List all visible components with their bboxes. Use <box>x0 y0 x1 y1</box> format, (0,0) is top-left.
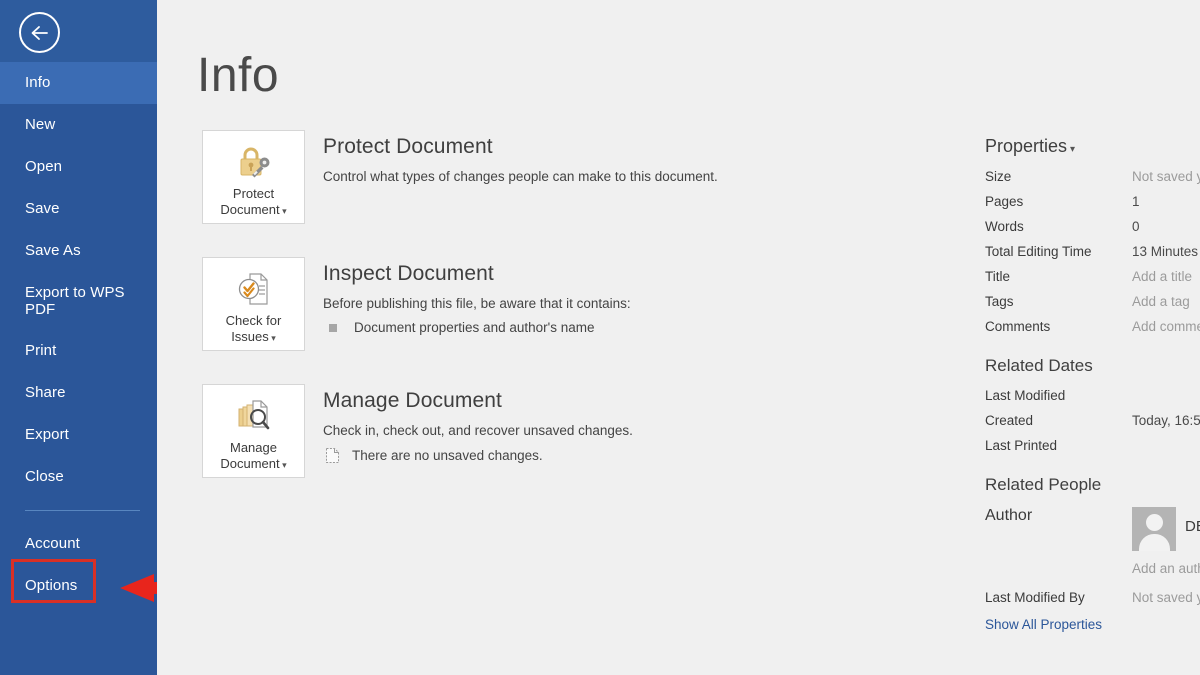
check-for-issues-button[interactable]: Check for Issues ▾ <box>202 257 305 351</box>
property-key: Total Editing Time <box>985 244 1132 259</box>
property-key: Tags <box>985 294 1132 309</box>
section-title: Inspect Document <box>323 262 631 286</box>
sidebar-item-save-as[interactable]: Save As <box>0 230 157 272</box>
sidebar-item-label: Open <box>25 158 62 175</box>
sidebar-item-label: Share <box>25 384 66 401</box>
property-value: 1 <box>1132 194 1140 209</box>
sidebar-item-export[interactable]: Export <box>0 414 157 456</box>
related-dates-heading: Related Dates <box>985 356 1200 376</box>
property-value: 13 Minutes <box>1132 244 1198 259</box>
tile-label: Protect Document ▾ <box>220 186 286 219</box>
section-inspect-document: Check for Issues ▾ Inspect Document Befo… <box>202 257 822 351</box>
author-name: DELL <box>1185 518 1200 535</box>
comments-field[interactable]: Add comments <box>1132 319 1200 334</box>
add-author-row: Add an author <box>985 557 1200 576</box>
avatar <box>1132 507 1176 551</box>
info-sections: Protect Document ▾ Protect Document Cont… <box>202 130 822 511</box>
chevron-down-icon: ▾ <box>1070 144 1075 155</box>
bullet-text: Document properties and author's name <box>354 320 594 335</box>
sidebar-item-open[interactable]: Open <box>0 146 157 188</box>
author-row: Author DELL <box>985 507 1200 551</box>
property-key: Title <box>985 269 1132 284</box>
title-field[interactable]: Add a title <box>1132 269 1192 284</box>
sidebar-item-label: Options <box>25 577 77 594</box>
section-title: Manage Document <box>323 389 633 413</box>
sidebar-item-save[interactable]: Save <box>0 188 157 230</box>
sidebar-item-export-to-wps-pdf[interactable]: Export to WPS PDF <box>0 272 157 330</box>
property-row-tags: Tags Add a tag <box>985 294 1200 309</box>
backstage-main: Info <box>157 0 1200 675</box>
property-row-comments: Comments Add comments <box>985 319 1200 334</box>
tile-label: Check for Issues ▾ <box>226 313 282 346</box>
section-title: Protect Document <box>323 135 718 159</box>
property-value: 0 <box>1132 219 1140 234</box>
property-row-created: Created Today, 16:52 <box>985 413 1200 428</box>
sidebar-item-label: Export <box>25 426 69 443</box>
sidebar-top-band <box>0 0 157 62</box>
sidebar-item-label: Save <box>25 200 60 217</box>
property-row-pages: Pages 1 <box>985 194 1200 209</box>
sidebar-item-share[interactable]: Share <box>0 372 157 414</box>
page-outline-icon <box>325 447 340 464</box>
property-row-words: Words 0 <box>985 219 1200 234</box>
sidebar-item-label: Close <box>25 468 64 485</box>
word-backstage-info-screen: Info New Open Save Save As Export to WPS… <box>0 0 1200 675</box>
document-inspect-icon <box>234 267 274 311</box>
property-value: Today, 16:52 <box>1132 413 1200 428</box>
show-all-properties-link[interactable]: Show All Properties <box>985 617 1200 632</box>
property-row-last-modified: Last Modified <box>985 388 1200 403</box>
property-key: Size <box>985 169 1132 184</box>
section-description: Check in, check out, and recover unsaved… <box>323 421 633 440</box>
avatar-body <box>1139 534 1170 551</box>
section-manage-document: Manage Document ▾ Manage Document Check … <box>202 384 822 478</box>
sidebar-item-label: Print <box>25 342 56 359</box>
property-value: Not saved yet <box>1132 590 1200 605</box>
property-key: Pages <box>985 194 1132 209</box>
page-title: Info <box>197 48 279 103</box>
sidebar-nav: Info New Open Save Save As Export to WPS… <box>0 62 157 607</box>
sidebar-item-print[interactable]: Print <box>0 330 157 372</box>
property-key: Comments <box>985 319 1132 334</box>
property-key: Words <box>985 219 1132 234</box>
chevron-down-icon: ▾ <box>269 333 276 343</box>
protect-document-text: Protect Document Control what types of c… <box>323 130 718 224</box>
manage-document-button[interactable]: Manage Document ▾ <box>202 384 305 478</box>
properties-heading[interactable]: Properties▾ <box>985 136 1200 157</box>
property-row-title: Title Add a title <box>985 269 1200 284</box>
sidebar-item-new[interactable]: New <box>0 104 157 146</box>
sidebar-item-label: Export to WPS PDF <box>25 284 125 319</box>
chevron-down-icon: ▾ <box>280 460 287 470</box>
sidebar-item-label: New <box>25 116 55 133</box>
sidebar-item-label: Info <box>25 74 50 91</box>
sidebar-item-close[interactable]: Close <box>0 456 157 498</box>
property-row-last-modified-by: Last Modified By Not saved yet <box>985 590 1200 605</box>
square-bullet-icon <box>329 324 337 332</box>
sidebar-item-info[interactable]: Info <box>0 62 157 104</box>
property-row-size: Size Not saved yet <box>985 169 1200 184</box>
property-key: Last Modified By <box>985 590 1132 605</box>
protect-document-button[interactable]: Protect Document ▾ <box>202 130 305 224</box>
sidebar-item-label: Account <box>25 535 80 552</box>
manage-document-icon <box>233 394 275 438</box>
sidebar-item-options[interactable]: Options <box>0 565 157 607</box>
property-row-total-editing-time: Total Editing Time 13 Minutes <box>985 244 1200 259</box>
section-description: Control what types of changes people can… <box>323 167 718 186</box>
avatar-head <box>1146 514 1163 531</box>
manage-bullet-row: There are no unsaved changes. <box>323 447 633 464</box>
property-row-last-printed: Last Printed <box>985 438 1200 453</box>
property-key: Created <box>985 413 1132 428</box>
section-description: Before publishing this file, be aware th… <box>323 294 631 313</box>
property-key: Last Printed <box>985 438 1132 453</box>
back-arrow-icon[interactable] <box>19 12 60 53</box>
sidebar-divider <box>25 510 140 511</box>
add-author-field[interactable]: Add an author <box>1132 561 1200 576</box>
property-key: Last Modified <box>985 388 1132 403</box>
inspect-bullet-row: Document properties and author's name <box>323 320 631 335</box>
inspect-document-text: Inspect Document Before publishing this … <box>323 257 631 351</box>
bullet-text: There are no unsaved changes. <box>352 448 543 463</box>
lock-and-key-icon <box>234 140 274 184</box>
sidebar-item-label: Save As <box>25 242 81 259</box>
chevron-down-icon: ▾ <box>280 206 287 216</box>
backstage-sidebar: Info New Open Save Save As Export to WPS… <box>0 0 157 675</box>
manage-document-text: Manage Document Check in, check out, and… <box>323 384 633 478</box>
author-key: Author <box>985 507 1132 525</box>
section-protect-document: Protect Document ▾ Protect Document Cont… <box>202 130 822 224</box>
tile-label: Manage Document ▾ <box>220 440 286 473</box>
properties-panel: Properties▾ Size Not saved yet Pages 1 W… <box>985 136 1200 632</box>
tags-field[interactable]: Add a tag <box>1132 294 1190 309</box>
sidebar-item-account[interactable]: Account <box>0 523 157 565</box>
related-people-heading: Related People <box>985 475 1200 495</box>
property-value[interactable]: Not saved yet <box>1132 169 1200 184</box>
